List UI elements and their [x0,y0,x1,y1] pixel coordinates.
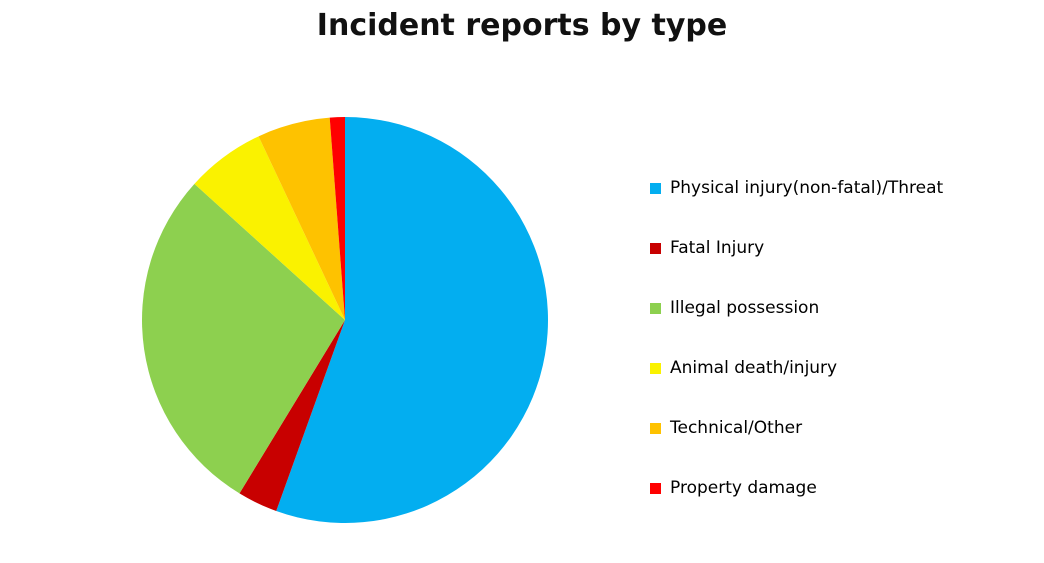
pie-slice-group [142,117,548,523]
legend-item[interactable]: Animal death/injury [650,338,1020,398]
legend-swatch-icon [650,303,661,314]
legend-swatch-icon [650,363,661,374]
legend-item[interactable]: Fatal Injury [650,218,1020,278]
legend-item-label: Property damage [670,478,817,498]
pie-plot-area [142,117,548,523]
pie-svg [142,117,548,523]
legend-item[interactable]: Technical/Other [650,398,1020,458]
legend-item-label: Fatal Injury [670,238,764,258]
legend-swatch-icon [650,423,661,434]
pie-chart-figure: Incident reports by type Physical injury… [0,0,1044,563]
legend-swatch-icon [650,243,661,254]
chart-legend: Physical injury(non-fatal)/ThreatFatal I… [650,158,1020,518]
legend-swatch-icon [650,483,661,494]
legend-item-label: Animal death/injury [670,358,837,378]
legend-item-label: Illegal possession [670,298,819,318]
legend-item-label: Physical injury(non-fatal)/Threat [670,178,943,198]
legend-swatch-icon [650,183,661,194]
legend-item-label: Technical/Other [670,418,802,438]
legend-item[interactable]: Illegal possession [650,278,1020,338]
legend-item[interactable]: Property damage [650,458,1020,518]
chart-title: Incident reports by type [0,8,1044,43]
legend-item[interactable]: Physical injury(non-fatal)/Threat [650,158,1020,218]
